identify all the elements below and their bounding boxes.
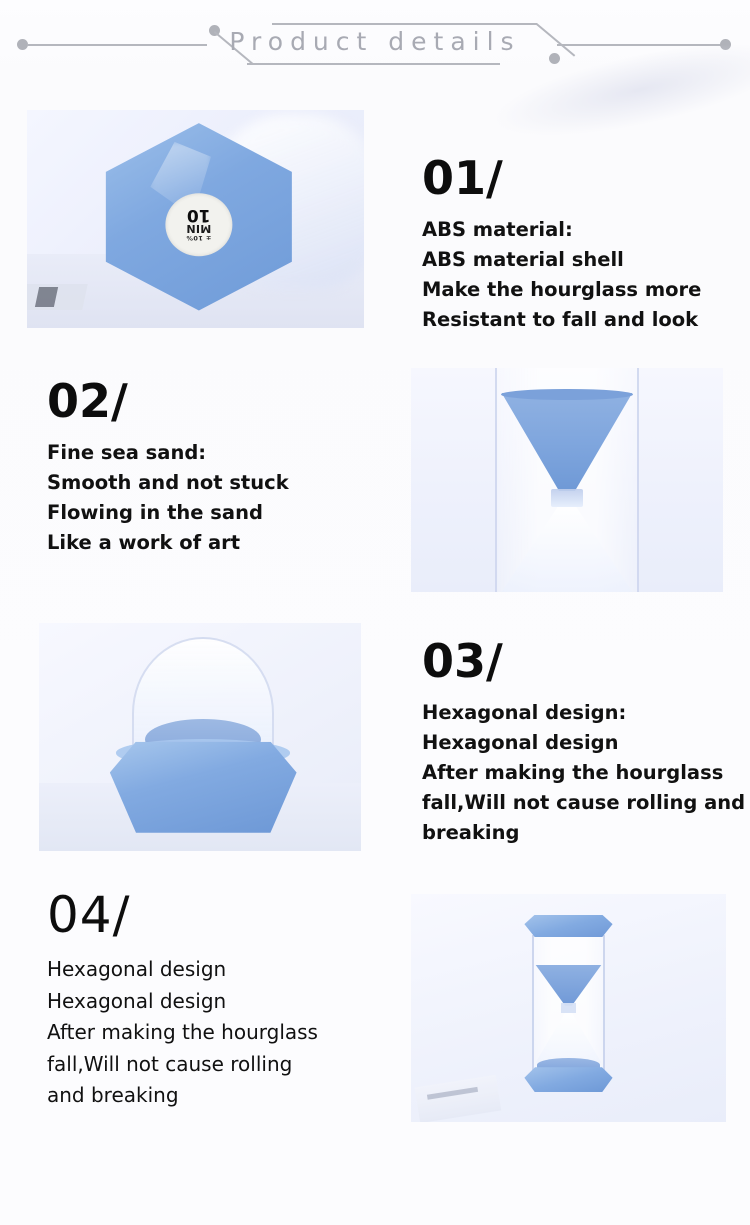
section-number-1: 01/ [422,155,701,201]
label-tolerance: ± 10% [186,234,211,242]
section-lines-4: Hexagonal design Hexagonal design After … [47,954,318,1112]
label-duration: 10 [187,206,211,223]
section-text-1: 01/ ABS material: ABS material shell Mak… [422,155,701,335]
product-photo-1: ± 10% MIN 10 [27,110,364,328]
scene-hexagonal-base-closeup: ± 10% MIN 10 [27,110,364,328]
scene-full-hourglass [411,894,726,1122]
section-number-4: 04/ [47,890,318,940]
section-lines-2: Fine sea sand: Smooth and not stuck Flow… [47,438,289,558]
page-header: Product details [0,0,750,95]
section-line: After making the hourglass [422,758,745,788]
section-number-2: 02/ [47,378,289,424]
section-line: Hexagonal design [422,728,745,758]
product-photo-4 [411,894,726,1122]
section-lines-1: ABS material: ABS material shell Make th… [422,215,701,335]
section-line: fall,Will not cause rolling and [422,788,745,818]
header-title-underline [247,63,500,65]
section-line: Flowing in the sand [47,498,289,528]
scene-sand-neck-macro [411,368,723,592]
section-text-3: 03/ Hexagonal design: Hexagonal design A… [422,638,745,848]
section-number-3: 03/ [422,638,745,684]
product-details-page: Product details ± 10% MIN 10 01/ ABS mat… [0,0,750,1225]
section-line: Hexagonal design [47,986,318,1018]
section-line: fall,Will not cause rolling [47,1049,318,1081]
product-photo-2 [411,368,723,592]
section-line: After making the hourglass [47,1017,318,1049]
duration-label: ± 10% MIN 10 [165,193,232,256]
scene-hexagonal-base-with-sand [39,623,361,851]
section-line: Hexagonal design: [422,698,745,728]
section-line: Like a work of art [47,528,289,558]
section-line: Smooth and not stuck [47,468,289,498]
section-line: ABS material: [422,215,701,245]
section-text-4: 04/ Hexagonal design Hexagonal design Af… [47,890,318,1112]
product-photo-3 [39,623,361,851]
section-line: and breaking [47,1080,318,1112]
section-line: Hexagonal design [47,954,318,986]
header-title-overline [272,23,537,25]
section-line: Make the hourglass more [422,275,701,305]
section-line: Resistant to fall and look [422,305,701,335]
page-title: Product details [0,27,750,56]
section-line: breaking [422,818,745,848]
section-lines-3: Hexagonal design: Hexagonal design After… [422,698,745,848]
section-text-2: 02/ Fine sea sand: Smooth and not stuck … [47,378,289,558]
section-line: ABS material shell [422,245,701,275]
section-line: Fine sea sand: [47,438,289,468]
